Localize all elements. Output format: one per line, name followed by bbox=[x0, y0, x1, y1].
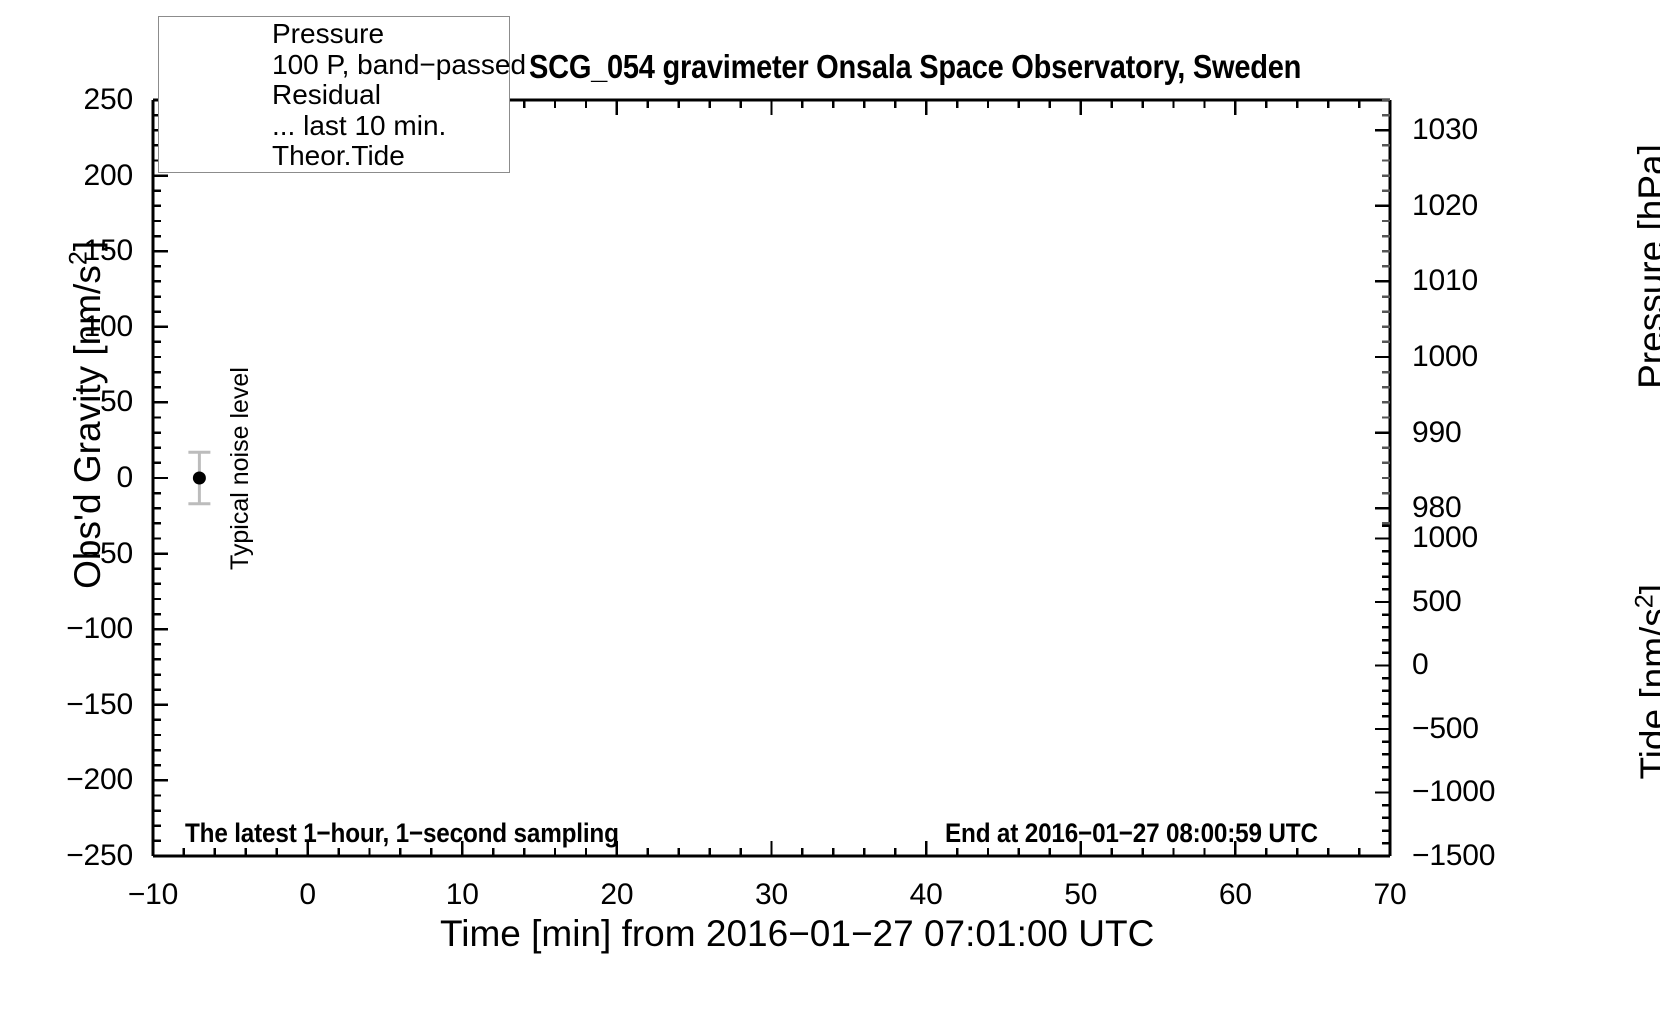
pressure-tick-label-980: 980 bbox=[1412, 493, 1461, 523]
y-tick-label-50: 50 bbox=[100, 387, 133, 417]
x-tick-label-10: 10 bbox=[446, 880, 479, 910]
y-tick-label-150: 150 bbox=[84, 236, 133, 266]
tide-tick-label-minus500: −500 bbox=[1412, 714, 1479, 744]
y-tick-label-200: 200 bbox=[84, 161, 133, 191]
x-tick-label-minus10: −10 bbox=[128, 880, 178, 910]
y-axis-title-tide: Tide [nm/s2] bbox=[1596, 584, 1660, 820]
y-axis-title-left: Obs'd Gravity [nm/s2] bbox=[30, 241, 143, 630]
x-tick-label-20: 20 bbox=[600, 880, 633, 910]
y-tick-label-minus200: −200 bbox=[66, 765, 133, 795]
tide-tick-label-500: 500 bbox=[1412, 587, 1461, 617]
x-tick-label-0: 0 bbox=[299, 880, 316, 910]
pressure-tick-label-1020: 1020 bbox=[1412, 191, 1478, 221]
tide-tick-label-minus1500: −1500 bbox=[1412, 841, 1495, 871]
legend-item-3[interactable]: ... last 10 min. bbox=[272, 112, 446, 140]
y-axis-title-pressure: Pressure [hPa] bbox=[1596, 144, 1660, 430]
x-tick-label-50: 50 bbox=[1064, 880, 1097, 910]
x-tick-label-60: 60 bbox=[1219, 880, 1252, 910]
y-tick-label-minus250: −250 bbox=[66, 841, 133, 871]
x-tick-label-40: 40 bbox=[910, 880, 943, 910]
y-tick-label-minus150: −150 bbox=[66, 690, 133, 720]
annotation-bottom-right: End at 2016−01−27 08:00:59 UTC bbox=[945, 820, 1318, 847]
legend-item-2[interactable]: Residual bbox=[272, 81, 381, 109]
legend-item-1[interactable]: 100 P, band−passed bbox=[272, 51, 526, 79]
y-axis-title-tide-text: Tide [nm/s2] bbox=[1633, 584, 1660, 780]
typical-noise-level-label: Typical noise level bbox=[228, 367, 253, 570]
x-tick-label-70: 70 bbox=[1374, 880, 1407, 910]
chart-canvas: SCG_054 gravimeter Onsala Space Observat… bbox=[0, 0, 1660, 1020]
y-tick-label-minus100: −100 bbox=[66, 614, 133, 644]
pressure-tick-label-1030: 1030 bbox=[1412, 115, 1478, 145]
y-tick-label-minus50: −50 bbox=[83, 539, 133, 569]
pressure-tick-label-990: 990 bbox=[1412, 418, 1461, 448]
pressure-tick-label-1000: 1000 bbox=[1412, 342, 1478, 372]
legend-item-0[interactable]: Pressure bbox=[272, 20, 384, 48]
tide-tick-label-minus1000: −1000 bbox=[1412, 777, 1495, 807]
y-axis-title-pressure-text: Pressure [hPa] bbox=[1631, 144, 1660, 389]
y-tick-label-0: 0 bbox=[117, 463, 134, 493]
y-tick-label-100: 100 bbox=[84, 312, 133, 342]
tide-tick-label-1000: 1000 bbox=[1412, 523, 1478, 553]
legend-item-4[interactable]: Theor.Tide bbox=[272, 142, 405, 170]
page-title: SCG_054 gravimeter Onsala Space Observat… bbox=[529, 50, 1301, 83]
pressure-tick-label-1010: 1010 bbox=[1412, 266, 1478, 296]
tide-tick-label-0: 0 bbox=[1412, 650, 1429, 680]
y-tick-label-250: 250 bbox=[84, 85, 133, 115]
annotation-bottom-left: The latest 1−hour, 1−second sampling bbox=[185, 820, 619, 847]
x-tick-label-30: 30 bbox=[755, 880, 788, 910]
x-axis-title: Time [min] from 2016−01−27 07:01:00 UTC bbox=[440, 915, 1154, 952]
